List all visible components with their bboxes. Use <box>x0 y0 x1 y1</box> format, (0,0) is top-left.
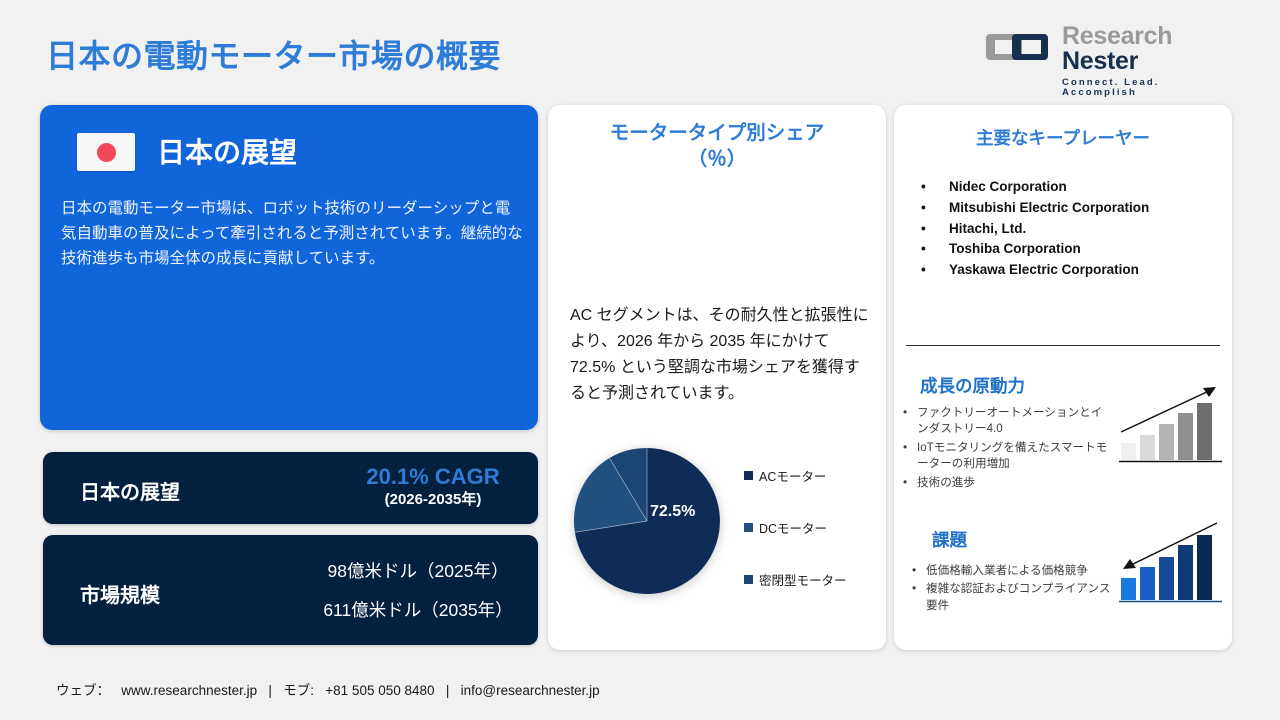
player-name: Toshiba Corporation <box>949 239 1081 260</box>
bar <box>1178 545 1193 600</box>
list-item: • 低価格輸入業者による価格競争 <box>912 563 1119 579</box>
share-card-title: モータータイプ別シェア （％） <box>566 121 868 172</box>
footer-separator-1: | <box>268 683 272 698</box>
logo-word-nester: Nester <box>1062 47 1138 75</box>
cagr-stat-value-group: 20.1% CAGR (2026-2035年) <box>288 464 578 510</box>
market-size-label: 市場規模 <box>80 579 160 608</box>
pie-legend: ACモーター DCモーター 密閉型モーター <box>744 449 894 605</box>
bullet-icon: • <box>921 239 949 260</box>
challenges-title: 課題 <box>932 527 967 552</box>
legend-label-ac: ACモーター <box>759 466 826 485</box>
legend-label-dc: DCモーター <box>759 518 827 537</box>
pie-chart: 72.5% ACモーター DCモーター 密閉型モーター <box>568 435 868 635</box>
list-item: • Hitachi, Ltd. <box>921 219 1211 240</box>
driver-text: ファクトリーオートメーションとインダストリー4.0 <box>917 405 1110 438</box>
cagr-value: 20.1% CAGR <box>288 464 578 490</box>
list-item: • 技術の進歩 <box>903 475 1110 491</box>
legend-swatch-hermetic <box>744 575 753 584</box>
legend-item-hermetic[interactable]: 密閉型モーター <box>744 553 894 605</box>
motor-type-share-card: モータータイプ別シェア （％） AC セグメントは、その耐久性と拡張性により、2… <box>548 105 886 650</box>
cagr-stat-card: 日本の展望 20.1% CAGR (2026-2035年) <box>43 452 538 524</box>
footer-email[interactable]: info@researchnester.jp <box>461 683 600 698</box>
driver-text: IoTモニタリングを備えたスマートモーターの利用増加 <box>917 440 1110 473</box>
logo-text: Research Nester Connect. Lead. Accomplis… <box>1062 24 1236 97</box>
market-size-value-group: 98億米ドル（2025年） 611億米ドル（2035年） <box>273 552 563 631</box>
bullet-icon: • <box>912 563 926 579</box>
list-item: • 複雑な認証およびコンプライアンス要件 <box>912 581 1119 614</box>
cagr-stat-label: 日本の展望 <box>80 476 180 505</box>
growth-drivers-title: 成長の原動力 <box>920 373 1025 398</box>
bullet-icon: • <box>921 260 949 281</box>
list-item: • Mitsubishi Electric Corporation <box>921 198 1211 219</box>
footer-web-label: ウェブ： <box>56 683 110 698</box>
challenge-text: 複雑な認証およびコンプライアンス要件 <box>926 581 1119 614</box>
footer-contact: ウェブ： www.researchnester.jp | モブ: +81 505… <box>56 679 600 699</box>
bullet-icon: • <box>921 177 949 198</box>
bullet-icon: • <box>921 219 949 240</box>
market-size-2025: 98億米ドル（2025年） <box>273 552 563 591</box>
driver-text: 技術の進歩 <box>917 475 975 491</box>
legend-label-hermetic: 密閉型モーター <box>759 570 847 589</box>
section-divider <box>906 345 1220 346</box>
player-name: Mitsubishi Electric Corporation <box>949 198 1149 219</box>
share-card-title-line2: （％） <box>566 147 868 173</box>
legend-swatch-dc <box>744 523 753 532</box>
slide-canvas: 日本の電動モーター市場の概要 Research Nester Connect. … <box>0 0 1280 720</box>
legend-swatch-ac <box>744 471 753 480</box>
list-item: • Toshiba Corporation <box>921 239 1211 260</box>
cagr-period: (2026-2035年) <box>288 490 578 510</box>
footer-separator-2: | <box>446 683 450 698</box>
market-size-2035: 611億米ドル（2035年） <box>273 591 563 630</box>
list-item: • Nidec Corporation <box>921 177 1211 198</box>
bullet-icon: • <box>903 405 917 438</box>
footer-phone-label: モブ: <box>283 683 314 698</box>
list-item: • IoTモニタリングを備えたスマートモーターの利用増加 <box>903 440 1110 473</box>
bar <box>1140 435 1155 460</box>
market-size-stat-card: 市場規模 98億米ドル（2025年） 611億米ドル（2035年） <box>43 535 538 645</box>
bar <box>1178 413 1193 460</box>
footer-web-value[interactable]: www.researchnester.jp <box>121 683 257 698</box>
bar <box>1140 567 1155 600</box>
chain-link-icon <box>986 30 1052 64</box>
logo-word-research: Research <box>1062 22 1172 50</box>
legend-item-ac[interactable]: ACモーター <box>744 449 894 501</box>
bullet-icon: • <box>921 198 949 219</box>
bar <box>1121 443 1136 460</box>
legend-item-dc[interactable]: DCモーター <box>744 501 894 553</box>
footer-phone-value: +81 505 050 8480 <box>325 683 434 698</box>
challenges-bar-chart <box>1119 520 1222 606</box>
pie-data-label-ac: 72.5% <box>650 503 695 521</box>
growth-trend-bar-chart <box>1119 380 1222 466</box>
key-players-card: 主要なキープレーヤー • Nidec Corporation • Mitsubi… <box>894 105 1232 650</box>
key-players-title: 主要なキープレーヤー <box>894 125 1232 150</box>
share-card-title-line1: モータータイプ別シェア <box>566 121 868 147</box>
challenges-list: • 低価格輸入業者による価格競争 • 複雑な認証およびコンプライアンス要件 <box>912 563 1119 616</box>
bar <box>1121 578 1136 600</box>
bar <box>1197 403 1212 460</box>
bar <box>1197 535 1212 600</box>
bullet-icon: • <box>912 581 926 614</box>
list-item: • ファクトリーオートメーションとインダストリー4.0 <box>903 405 1110 438</box>
share-card-body: AC セグメントは、その耐久性と拡張性により、2026 年から 2035 年にか… <box>570 303 872 407</box>
player-name: Hitachi, Ltd. <box>949 219 1026 240</box>
challenge-text: 低価格輸入業者による価格競争 <box>926 563 1088 579</box>
page-title: 日本の電動モーター市場の概要 <box>46 31 501 77</box>
bar <box>1159 557 1174 600</box>
list-item: • Yaskawa Electric Corporation <box>921 260 1211 281</box>
key-players-list: • Nidec Corporation • Mitsubishi Electri… <box>921 177 1211 281</box>
bullet-icon: • <box>903 475 917 491</box>
growth-drivers-list: • ファクトリーオートメーションとインダストリー4.0 • IoTモニタリングを… <box>903 405 1110 493</box>
bullet-icon: • <box>903 440 917 473</box>
outlook-card-body: 日本の電動モーター市場は、ロボット技術のリーダーシップと電気自動車の普及によって… <box>61 196 523 271</box>
player-name: Nidec Corporation <box>949 177 1067 198</box>
player-name: Yaskawa Electric Corporation <box>949 260 1139 281</box>
logo-tagline: Connect. Lead. Accomplish <box>1062 78 1236 97</box>
bar <box>1159 424 1174 460</box>
japan-flag-icon <box>77 133 135 171</box>
pie-chart-svg <box>571 445 723 597</box>
brand-logo: Research Nester Connect. Lead. Accomplis… <box>986 24 1236 72</box>
outlook-card-title: 日本の展望 <box>157 131 297 171</box>
